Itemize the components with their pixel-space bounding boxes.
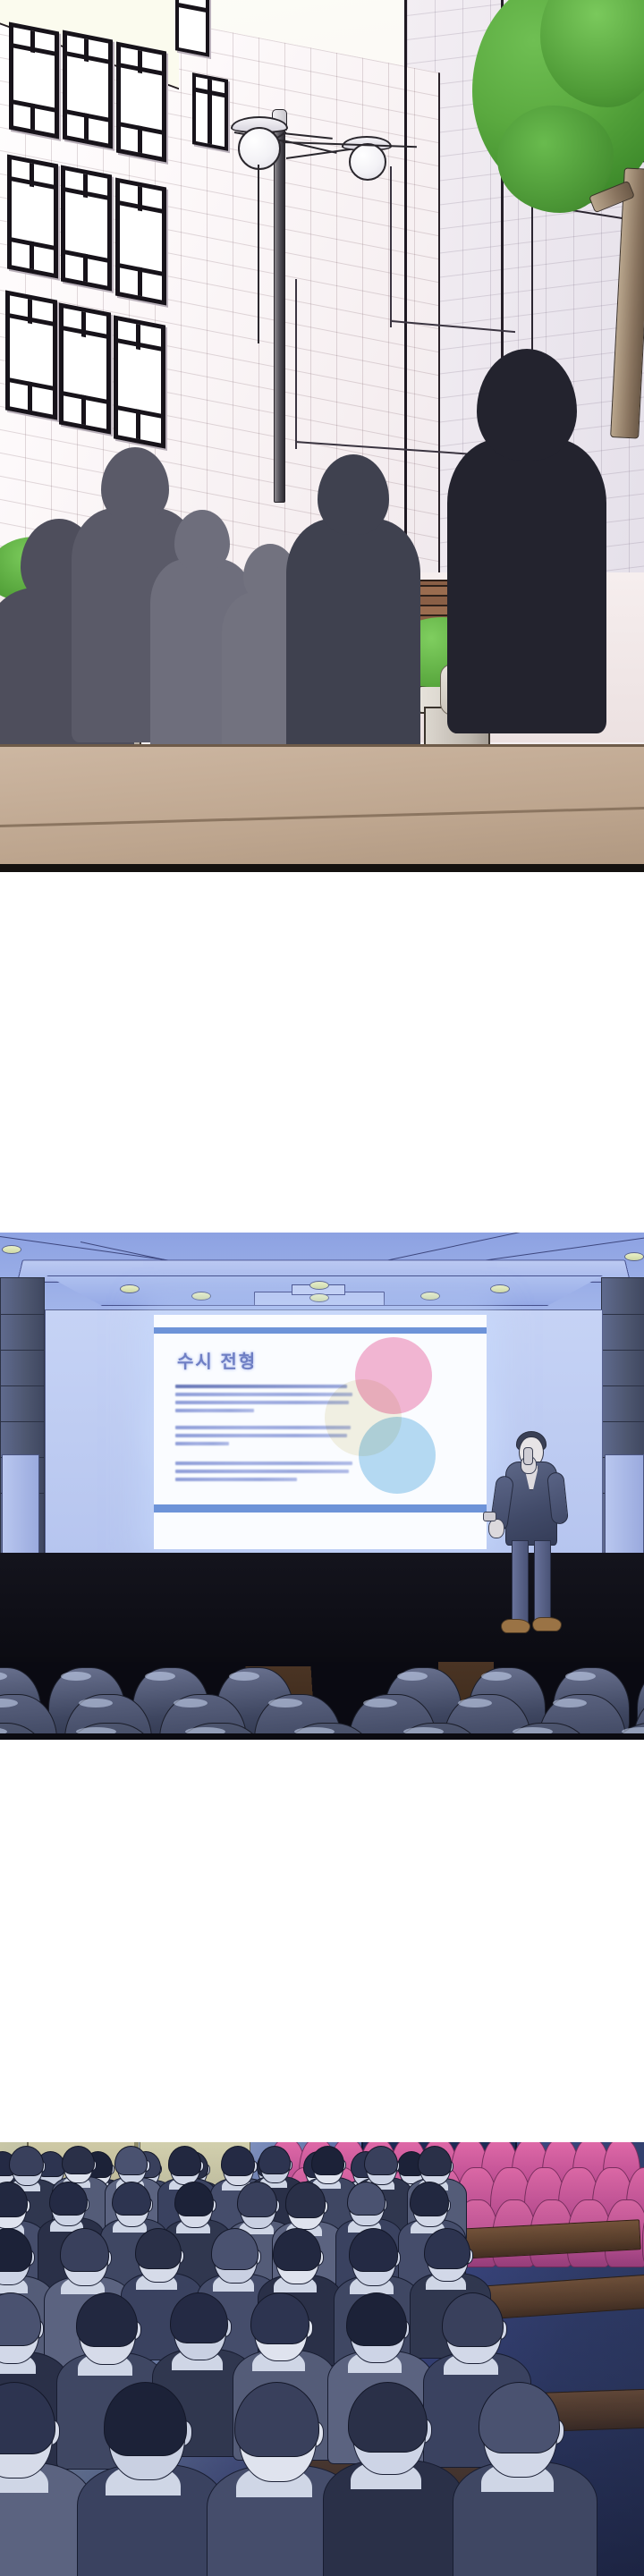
silhouette-head <box>477 349 577 461</box>
slide-body-paragraph-3 <box>175 1462 354 1486</box>
circle-low-blue <box>359 1417 436 1494</box>
window-r3-c2 <box>59 302 111 434</box>
seat-highlight <box>268 1699 302 1707</box>
microphone <box>523 1447 533 1465</box>
silhouette-body <box>286 519 420 767</box>
person-hair <box>112 2182 150 2216</box>
silhouette-body <box>447 438 606 733</box>
person-hair <box>0 2182 28 2217</box>
audience-person <box>0 2382 77 2576</box>
panel-exterior-building-crowd <box>0 0 644 872</box>
person-hair <box>410 2182 449 2216</box>
seat-highlight <box>481 1672 512 1681</box>
person-hair <box>76 2292 138 2347</box>
webtoon-page: 수시 전형 <box>0 0 644 2576</box>
person-hair <box>135 2228 182 2269</box>
person-hair <box>174 2182 214 2216</box>
window-r3-c3 <box>114 315 165 448</box>
audience-person <box>335 2382 449 2576</box>
seat-highlight <box>174 1699 208 1707</box>
person-hair <box>348 2382 428 2453</box>
person-hair <box>234 2382 319 2457</box>
silhouette-head <box>318 454 389 535</box>
person-hair <box>349 2228 398 2272</box>
person-hair <box>168 2146 202 2176</box>
person-hair <box>250 2292 309 2344</box>
seat-highlight <box>145 1672 175 1681</box>
presenter-shoe-left <box>501 1619 530 1633</box>
window-r3-c1 <box>5 290 57 419</box>
person-hair <box>418 2146 452 2176</box>
presenter-leg-right <box>534 1540 551 1624</box>
person-hair <box>104 2382 188 2456</box>
seat-highlight <box>79 1699 113 1707</box>
person-hair <box>442 2292 504 2347</box>
person-hair <box>346 2292 406 2346</box>
person-hair <box>60 2228 110 2272</box>
window-r1-c3 <box>116 42 166 163</box>
banner-cable-left <box>390 166 392 327</box>
ground-paving <box>0 744 644 872</box>
audience-person <box>464 2382 581 2576</box>
panel-audience-crowd <box>0 2142 644 2576</box>
seat-highlight <box>397 1672 428 1681</box>
person-hair <box>114 2146 148 2175</box>
person-hair <box>258 2146 291 2174</box>
person-hair <box>311 2146 344 2175</box>
slide-top-bar <box>154 1327 487 1334</box>
ceiling-light-8 <box>624 1252 644 1261</box>
ceiling-light-6 <box>490 1284 510 1293</box>
person-hair <box>211 2228 258 2270</box>
window-side-upper <box>192 72 228 151</box>
seat-highlight <box>553 1699 587 1707</box>
figure-6-dark-foreground <box>447 349 606 733</box>
person-hair <box>9 2146 44 2176</box>
panel2-bottom-edge <box>0 1733 644 1740</box>
presenter-shoe-right <box>532 1617 562 1631</box>
person-hair <box>273 2228 321 2271</box>
person-hair <box>0 2292 41 2346</box>
person-hair <box>0 2382 55 2454</box>
window-r2-c2 <box>61 165 112 291</box>
presenter-hand-left <box>488 1519 504 1538</box>
facade-line-d <box>295 279 297 449</box>
person-hair <box>285 2182 326 2218</box>
seat-highlight <box>565 1672 596 1681</box>
person-hair <box>364 2146 397 2175</box>
seat-highlight <box>0 1672 7 1681</box>
lamp-globe-left <box>238 127 281 170</box>
seat-highlight <box>61 1672 91 1681</box>
person-hair <box>424 2228 470 2269</box>
window-r2-c1 <box>7 154 58 278</box>
ceiling-light-7 <box>2 1245 21 1254</box>
audience-person <box>89 2382 210 2576</box>
person-hair <box>0 2228 32 2272</box>
ceiling-light-4 <box>309 1293 329 1302</box>
window-r1-c2 <box>63 30 113 149</box>
ceiling-light-5 <box>420 1292 440 1301</box>
person-hair <box>170 2292 228 2343</box>
window-upper-right <box>175 0 209 57</box>
gutter-1 <box>0 872 644 1233</box>
presenter-leg-left <box>512 1540 529 1624</box>
window-r2-c3 <box>115 177 166 305</box>
ceiling-light-2 <box>191 1292 211 1301</box>
panel-bottom-edge <box>0 864 644 872</box>
seat-highlight <box>0 1699 18 1707</box>
seat-highlight <box>458 1699 492 1707</box>
window-r1-c1 <box>9 22 59 140</box>
presentation-screen: 수시 전형 <box>154 1315 487 1549</box>
seat-highlight <box>229 1672 259 1681</box>
person-hair <box>347 2182 386 2216</box>
ground-seam-1 <box>0 744 644 747</box>
slide-title: 수시 전형 <box>177 1347 257 1373</box>
lamp-wire-left <box>258 165 259 343</box>
person-hair <box>479 2382 560 2453</box>
slide-bottom-bar <box>154 1504 487 1513</box>
ceiling-light-1 <box>120 1284 140 1293</box>
gutter-2 <box>0 1740 644 2142</box>
ceiling-light-3 <box>309 1281 329 1290</box>
figure-5-centre <box>286 454 420 767</box>
seat-highlight <box>363 1699 397 1707</box>
slide-clicker <box>483 1512 496 1521</box>
person-hair <box>221 2146 255 2176</box>
person-hair <box>237 2182 277 2217</box>
lamp-pole <box>274 125 285 503</box>
person-hair <box>49 2182 87 2216</box>
lamp-globe-right <box>349 143 386 181</box>
person-hair <box>62 2146 94 2174</box>
panel-lecture-hall-presentation: 수시 전형 <box>0 1233 644 1740</box>
